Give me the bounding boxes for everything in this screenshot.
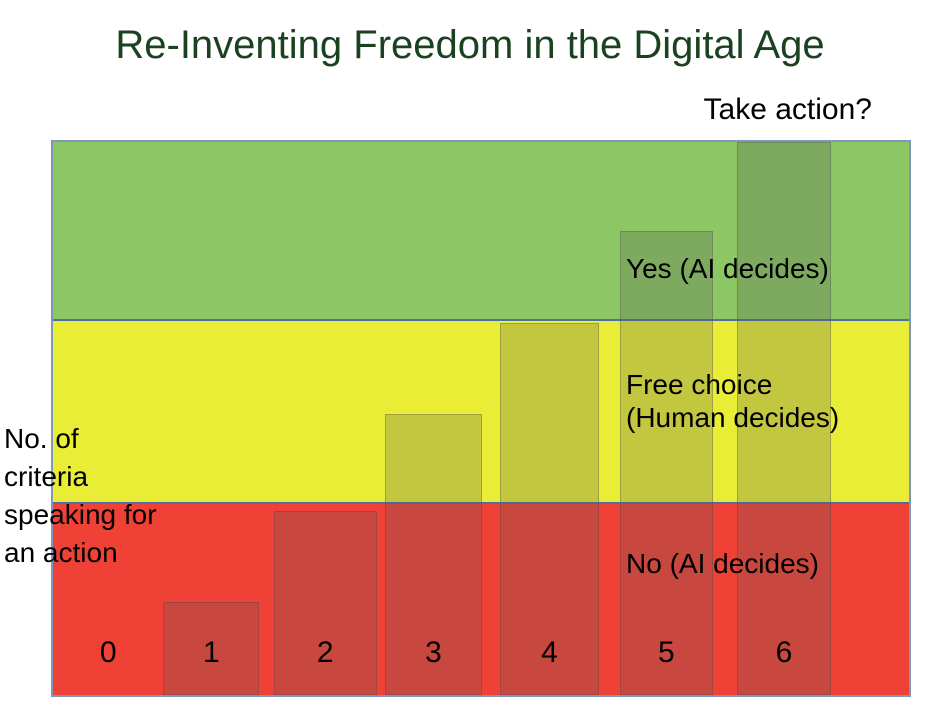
x-axis-label-5: 5 [620,637,713,669]
x-axis-label-2: 2 [274,637,377,669]
page-title: Re-Inventing Freedom in the Digital Age [0,22,940,68]
x-axis-label-6: 6 [737,637,831,669]
take-action-caption: Take action? [704,93,872,127]
x-axis-label-4: 4 [500,637,599,669]
x-axis-label-1: 1 [163,637,259,669]
y-axis-label: No. of criteria speaking for an action [4,420,219,572]
x-axis-label-0: 0 [53,637,163,669]
x-axis-label-3: 3 [385,637,482,669]
decision-zone-chart: Yes (AI decides) Free choice (Human deci… [51,140,911,697]
x-axis-category-labels: 0123456 [53,142,909,695]
